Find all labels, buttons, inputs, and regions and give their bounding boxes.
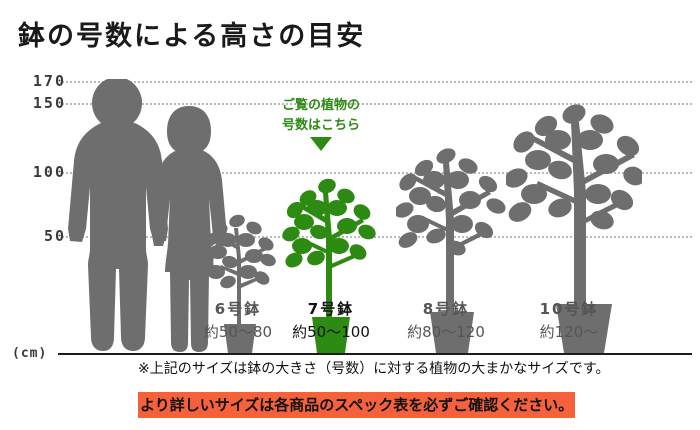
- footer-note-general: ※上記のサイズは鉢の大きさ（号数）に対する植物の大まかなサイズです。: [138, 358, 610, 378]
- pot-size-chart-infographic: 鉢の号数による高さの目安 170 150 100 50 (cm): [0, 0, 700, 430]
- axis-baseline: [58, 353, 692, 355]
- ytick-100: 100: [6, 163, 66, 181]
- callout-line-2: 号数はこちら: [258, 116, 384, 136]
- ytick-150: 150: [6, 94, 66, 112]
- callout-line-1: ご覧の植物の: [258, 96, 384, 116]
- ytick-170: 170: [6, 72, 66, 90]
- pot-label-10go-size: 約120〜: [494, 321, 644, 344]
- page-title: 鉢の号数による高さの目安: [18, 14, 365, 53]
- pot-label-10go-name: 10号鉢: [494, 298, 644, 321]
- callout-current-plant: ご覧の植物の 号数はこちら: [258, 96, 384, 151]
- pot-label-10go: 10号鉢 約120〜: [494, 298, 644, 343]
- ytick-50: 50: [6, 227, 66, 245]
- down-triangle-icon: [310, 137, 332, 151]
- footer-note-highlight: より詳しいサイズは各商品のスペック表を必ずご確認ください。: [138, 392, 575, 418]
- axis-unit-label: (cm): [12, 346, 47, 361]
